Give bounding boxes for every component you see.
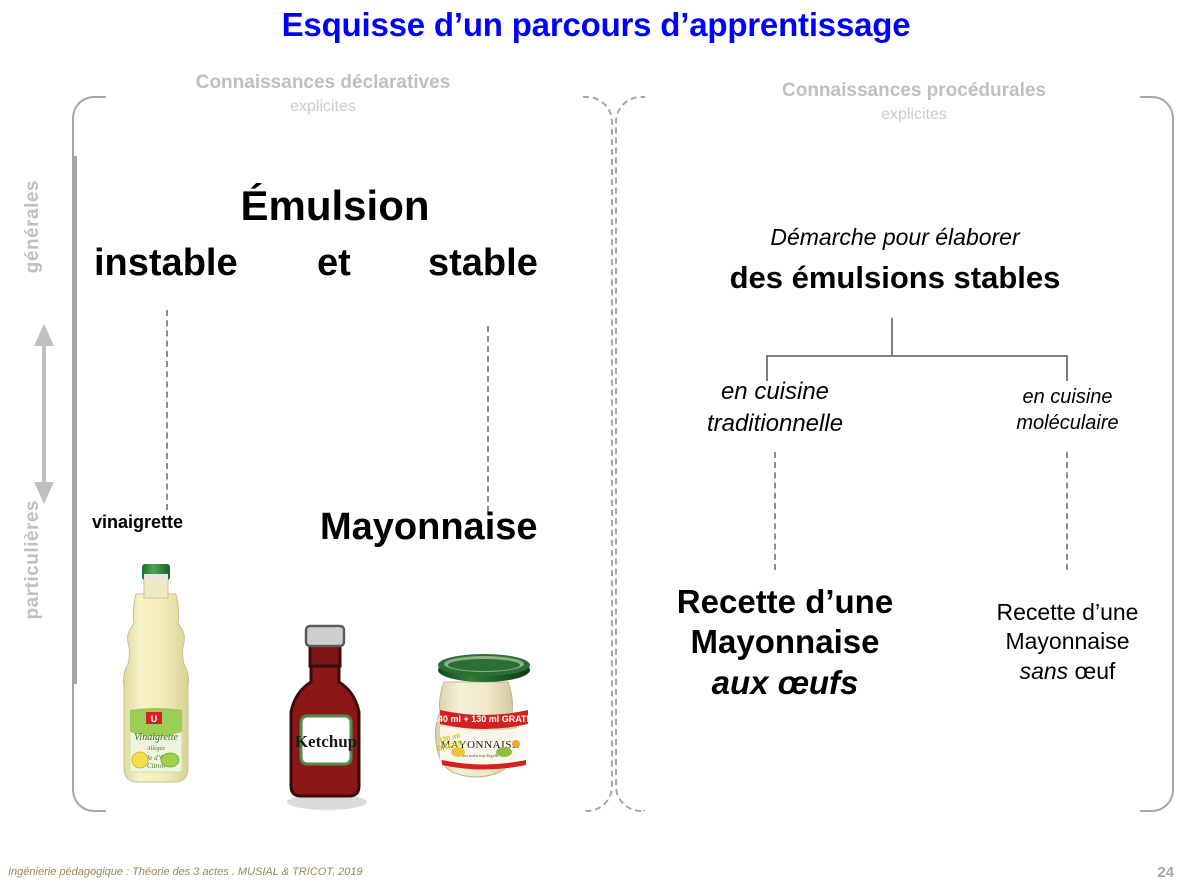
column-header-declarative-main: Connaissances déclaratives bbox=[150, 72, 496, 94]
page-number: 24 bbox=[1157, 864, 1174, 881]
ketchup-bottle-image: Ketchup bbox=[275, 620, 375, 816]
recipe-eggs-line3: aux œufs bbox=[620, 663, 950, 703]
emulsion-heading: Émulsion bbox=[100, 182, 570, 230]
tree-connector-bar bbox=[766, 355, 1068, 357]
example-vinaigrette-label: vinaigrette bbox=[92, 512, 183, 533]
vinaigrette-bottle-image: U Vinaigrette Allégée Huile d’Olive Citr… bbox=[118, 560, 194, 810]
connector-molecular-to-recipe bbox=[1066, 452, 1068, 570]
center-separator-left bbox=[583, 96, 613, 812]
column-header-declarative-sub: explicites bbox=[150, 98, 496, 116]
svg-text:mit mehr mit Eigelb: mit mehr mit Eigelb bbox=[462, 753, 499, 758]
branch-traditional-line2: traditionnelle bbox=[707, 410, 843, 437]
branch-molecular-line2: moléculaire bbox=[1016, 412, 1118, 434]
footer-citation: Ingénierie pédagogique : Théorie des 3 a… bbox=[8, 866, 363, 878]
axis-label-particulieres: particulières bbox=[22, 500, 44, 620]
recipe-eggs-line1: Recette d’une bbox=[677, 583, 893, 620]
branch-label-molecular: en cuisine moléculaire bbox=[965, 384, 1170, 437]
column-header-procedural-main: Connaissances procédurales bbox=[735, 80, 1093, 102]
svg-text:Ketchup: Ketchup bbox=[295, 732, 357, 751]
procedural-intro-italic: Démarche pour élaborer bbox=[650, 224, 1140, 251]
recipe-noeggs-line3-rest: œuf bbox=[1068, 658, 1115, 684]
recipe-noeggs-line3-italic: sans bbox=[1020, 658, 1069, 684]
tree-connector-stem bbox=[891, 318, 893, 356]
connector-unstable-to-vinaigrette bbox=[166, 310, 168, 510]
tree-connector-drop-right bbox=[1066, 355, 1068, 381]
branch-traditional-line1: en cuisine bbox=[721, 378, 829, 405]
connector-stable-to-mayonnaise bbox=[487, 326, 489, 512]
recipe-noeggs-line2: Mayonnaise bbox=[1005, 628, 1129, 654]
emulsion-stable-label: stable bbox=[428, 242, 538, 285]
svg-text:340 ml + 130 ml GRATIS: 340 ml + 130 ml GRATIS bbox=[433, 714, 535, 724]
recipe-noeggs-line1: Recette d’une bbox=[997, 599, 1139, 625]
double-arrow-icon bbox=[32, 322, 56, 506]
recipe-without-eggs: Recette d’une Mayonnaise sans œuf bbox=[960, 598, 1175, 686]
column-header-procedural: Connaissances procédurales explicites bbox=[735, 80, 1093, 124]
svg-text:Vinaigrette: Vinaigrette bbox=[134, 732, 178, 743]
svg-text:U: U bbox=[151, 714, 158, 724]
center-separator-right bbox=[615, 96, 645, 812]
svg-text:Allégée: Allégée bbox=[146, 746, 165, 752]
axis-label-generales: générales bbox=[22, 180, 44, 273]
column-header-declarative: Connaissances déclaratives explicites bbox=[150, 72, 496, 116]
column-header-procedural-sub: explicites bbox=[735, 106, 1093, 124]
connector-traditional-to-recipe bbox=[774, 452, 776, 570]
sidebar-divider bbox=[74, 156, 77, 684]
branch-molecular-line1: en cuisine bbox=[1022, 386, 1112, 408]
right-bracket bbox=[1140, 96, 1174, 812]
procedural-intro-bold: des émulsions stables bbox=[640, 260, 1150, 296]
emulsion-conjunction: et bbox=[317, 242, 351, 285]
page-title: Esquisse d’un parcours d’apprentissage bbox=[0, 6, 1192, 44]
branch-label-traditional: en cuisine traditionnelle bbox=[660, 376, 890, 439]
example-mayonnaise-label: Mayonnaise bbox=[320, 506, 538, 549]
recipe-eggs-line2: Mayonnaise bbox=[691, 623, 880, 660]
mayonnaise-jar-image: 340 ml + 130 ml GRATIS MAYONNAISE mit me… bbox=[428, 648, 540, 796]
slide-canvas: Esquisse d’un parcours d’apprentissage C… bbox=[0, 0, 1192, 891]
recipe-with-eggs: Recette d’une Mayonnaise aux œufs bbox=[620, 582, 950, 703]
emulsion-unstable-label: instable bbox=[94, 242, 238, 285]
